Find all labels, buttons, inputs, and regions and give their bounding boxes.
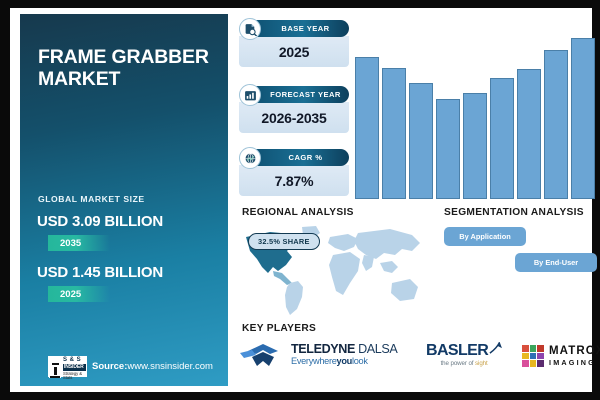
matrox-brand: MATROX — [549, 346, 600, 358]
logo-teledyne-dalsa: TELEDYNE DALSA Everywhereyoulook — [240, 342, 397, 368]
document-search-icon — [239, 18, 261, 40]
left-summary-panel: FRAME GRABBER MARKET GLOBAL MARKET SIZE … — [20, 14, 228, 386]
teledyne-tagline-c: look — [352, 356, 368, 366]
basler-wordmark: BASLER the power of sight — [426, 343, 502, 367]
badge-label: CAGR % — [248, 149, 349, 166]
segment-pill-by-application[interactable]: By Application — [444, 227, 526, 246]
basler-brand: BASLER — [426, 343, 488, 359]
bar-7 — [517, 69, 541, 199]
region-africa — [329, 252, 360, 295]
publisher-wordmark: S & S INSIDER Strategy & Stats — [62, 357, 86, 380]
region-southeast-asia — [380, 261, 398, 273]
region-south-america — [285, 281, 303, 315]
section-title-key-players: KEY PLAYERS — [242, 323, 316, 334]
logo-matrox-imaging: MATROX IMAGING — [522, 345, 600, 367]
matrox-sub-brand: IMAGING — [549, 359, 600, 366]
teledyne-tagline-b: you — [337, 356, 352, 366]
teledyne-mark-icon — [240, 342, 286, 368]
infographic-frame: FRAME GRABBER MARKET GLOBAL MARKET SIZE … — [0, 0, 600, 400]
region-europe — [328, 234, 358, 251]
bar-series — [355, 26, 595, 199]
region-asia — [354, 229, 420, 259]
region-central-america — [273, 271, 292, 285]
badge-label: BASE YEAR — [248, 20, 349, 37]
basler-tagline: the power of sight — [426, 361, 502, 367]
basler-tagline-b: sight — [475, 360, 488, 367]
segmentation-bar-chart — [355, 26, 595, 199]
segment-pill-by-end-user[interactable]: By End-User — [515, 253, 597, 272]
teledyne-tagline: Everywhereyoulook — [291, 357, 397, 366]
market-size-base-value: USD 1.45 BILLION — [37, 264, 163, 281]
logo-basler: BASLER the power of sight — [426, 343, 502, 367]
source-text: Source:www.snsinsider.com — [92, 361, 213, 372]
teledyne-brand-sub: DALSA — [358, 342, 397, 356]
bar-1 — [355, 57, 379, 199]
section-title-segmentation: SEGMENTATION ANALYSIS — [444, 207, 584, 218]
region-india — [362, 255, 374, 271]
market-size-future-value: USD 3.09 BILLION — [37, 213, 163, 230]
badge-value: 7.87% — [239, 165, 349, 196]
bar-5 — [463, 93, 487, 199]
market-size-future-year-chip: 2035 — [48, 235, 110, 251]
growth-globe-icon — [239, 147, 261, 169]
infographic-canvas: FRAME GRABBER MARKET GLOBAL MARKET SIZE … — [10, 8, 592, 392]
publisher-line1: S & S — [63, 357, 86, 363]
badge-cagr: CAGR % 7.87% — [239, 149, 349, 196]
badge-label: FORECAST YEAR — [248, 86, 349, 103]
matrox-wordmark: MATROX IMAGING — [549, 346, 600, 367]
region-australia — [391, 279, 418, 301]
bar-4 — [436, 99, 460, 199]
publisher-line2: INSIDER — [63, 364, 86, 371]
share-callout: 32.5% SHARE — [248, 233, 320, 250]
bar-6 — [490, 78, 514, 199]
basler-swoosh-icon — [489, 342, 502, 355]
bar-9 — [571, 38, 595, 199]
basler-brand-row: BASLER — [426, 343, 502, 359]
bar-8 — [544, 50, 568, 199]
key-players-logos: TELEDYNE DALSA Everywhereyoulook BASLER … — [240, 338, 600, 382]
bar-2 — [382, 68, 406, 199]
bar-3 — [409, 83, 433, 199]
teledyne-brand: TELEDYNE DALSA — [291, 343, 397, 356]
publisher-mark-icon — [49, 360, 61, 378]
badge-forecast-year: FORECAST YEAR 2026-2035 — [239, 86, 349, 133]
regional-world-map: 32.5% SHARE — [240, 221, 436, 317]
source-prefix: Source: — [92, 361, 127, 372]
section-title-regional: REGIONAL ANALYSIS — [242, 207, 354, 218]
teledyne-wordmark: TELEDYNE DALSA Everywhereyoulook — [291, 343, 397, 366]
teledyne-tagline-a: Everywhere — [291, 356, 337, 366]
market-size-base-year-chip: 2025 — [48, 286, 110, 302]
teledyne-brand-main: TELEDYNE — [291, 342, 355, 356]
source-row: S & S INSIDER Strategy & Stats Source:ww… — [48, 356, 213, 377]
bar-chart-icon — [239, 84, 261, 106]
page-title: FRAME GRABBER MARKET — [38, 46, 224, 90]
publisher-logo: S & S INSIDER Strategy & Stats — [48, 356, 87, 377]
matrox-grid-icon — [522, 345, 544, 367]
publisher-line3: Strategy & Stats — [63, 372, 86, 380]
badge-base-year: BASE YEAR 2025 — [239, 20, 349, 67]
badge-value: 2026-2035 — [239, 102, 349, 133]
basler-tagline-a: the power of — [441, 360, 475, 367]
global-market-size-label: GLOBAL MARKET SIZE — [38, 194, 145, 204]
badge-value: 2025 — [239, 36, 349, 67]
source-url[interactable]: www.snsinsider.com — [127, 361, 213, 372]
